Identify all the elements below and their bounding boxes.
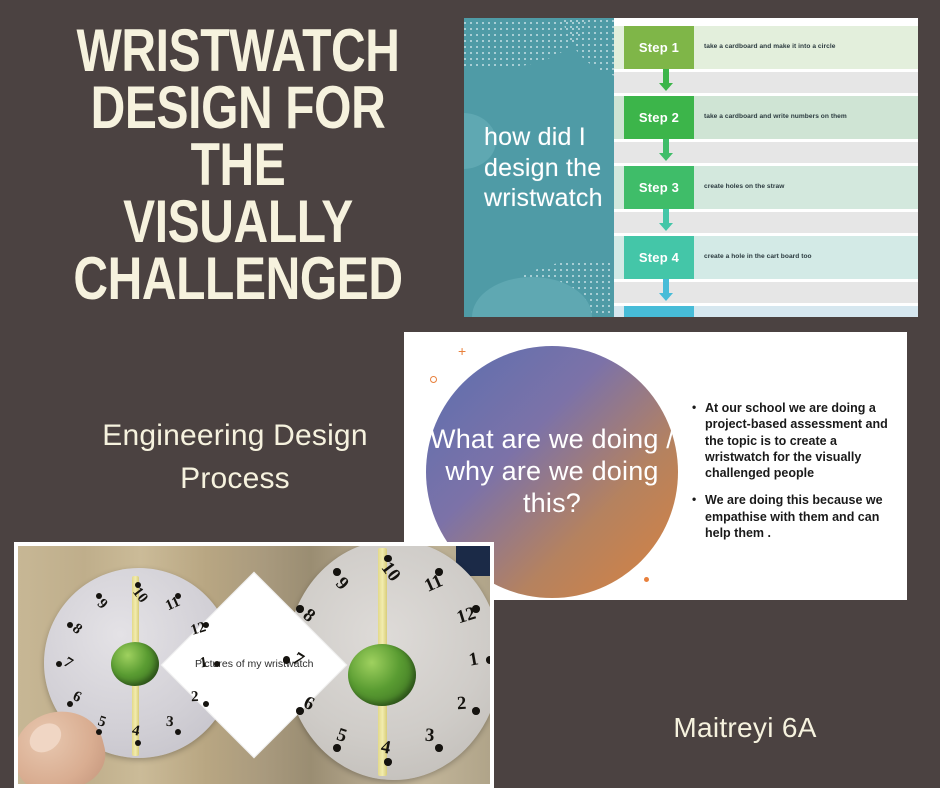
bindi-dot [296,707,304,715]
bindi-dot [486,656,490,664]
author-credit: Maitreyi 6A [600,712,890,744]
process-step-row: Step 2 take a cardboard and write number… [614,96,918,139]
step-description: insert the earrings with straw into the … [694,306,918,317]
dot-texture-top-right [562,18,614,78]
dial-number: 3 [165,714,174,731]
step-connector [614,282,918,303]
bindi-dot [96,729,102,735]
watch-bead-center-left [111,642,159,686]
bindi-dot [472,605,480,613]
wristwatch-photo-inner: Pictures of my wristwatch 11121234567891… [18,546,490,784]
step-badge: Step 1 [624,26,694,69]
step-badge: Step 4 [624,236,694,279]
step-description: take a cardboard and make it into a circ… [694,26,918,69]
question-circle-text: What are we doing / why are we doing thi… [426,424,678,520]
bindi-dot [472,707,480,715]
what-why-bullet-list: At our school we are doing a project-bas… [692,400,892,552]
bindi-dot [67,701,73,707]
process-step-row: Step 3 create holes on the straw [614,166,918,209]
bindi-dot [333,744,341,752]
step-badge: Step 3 [624,166,694,209]
dot-decoration-icon [644,577,649,582]
dial-number: 2 [456,693,467,715]
slide-process-left-panel: how did I design the wristwatch [464,18,614,317]
watch-bead-center-right [348,644,416,706]
step-description: take a cardboard and write numbers on th… [694,96,918,139]
process-step-row: Step 5 insert the earrings with straw in… [614,306,918,317]
bindi-dot [384,758,392,766]
bindi-dot [283,656,291,664]
bindi-dot [56,661,62,667]
bindi-dot [384,555,392,563]
step-description: create a hole in the cart board too [694,236,918,279]
process-step-row: Step 4 create a hole in the cart board t… [614,236,918,279]
bindi-dot [435,744,443,752]
bindi-dot [333,568,341,576]
bindi-dot [135,740,141,746]
list-item: We are doing this because we empathise w… [692,492,892,541]
dial-number: 2 [190,689,198,706]
step-connector [614,212,918,233]
step-connector [614,72,918,93]
ring-decoration-icon [430,376,437,383]
page-title: WRISTWATCH DESIGN FOR THE VISUALLY CHALL… [70,22,406,307]
poster-canvas: WRISTWATCH DESIGN FOR THE VISUALLY CHALL… [0,0,940,788]
bindi-dot [435,568,443,576]
bindi-dot [214,661,220,667]
wristwatch-photo: Pictures of my wristwatch 11121234567891… [14,542,494,788]
bindi-dot [203,622,209,628]
bindi-dot [175,593,181,599]
plus-decoration-icon: + [458,344,466,358]
bindi-dot [96,593,102,599]
bindi-dot [175,729,181,735]
step-badge: Step 2 [624,96,694,139]
slide-process-flow: how did I design the wristwatch Step 1 t… [464,18,918,317]
slide-process-steps: Step 1 take a cardboard and make it into… [614,18,918,317]
poster-subtitle: Engineering Design Process [60,415,410,500]
bindi-dot [296,605,304,613]
bindi-dot [203,701,209,707]
step-connector [614,142,918,163]
step-description: create holes on the straw [694,166,918,209]
dial-number: 3 [424,725,435,748]
thumbnail [24,717,67,758]
list-item: At our school we are doing a project-bas… [692,400,892,481]
step-badge: Step 5 [624,306,694,317]
process-step-row: Step 1 take a cardboard and make it into… [614,26,918,69]
bindi-dot [67,622,73,628]
slide-process-heading: how did I design the wristwatch [484,122,614,214]
bindi-dot [135,582,141,588]
